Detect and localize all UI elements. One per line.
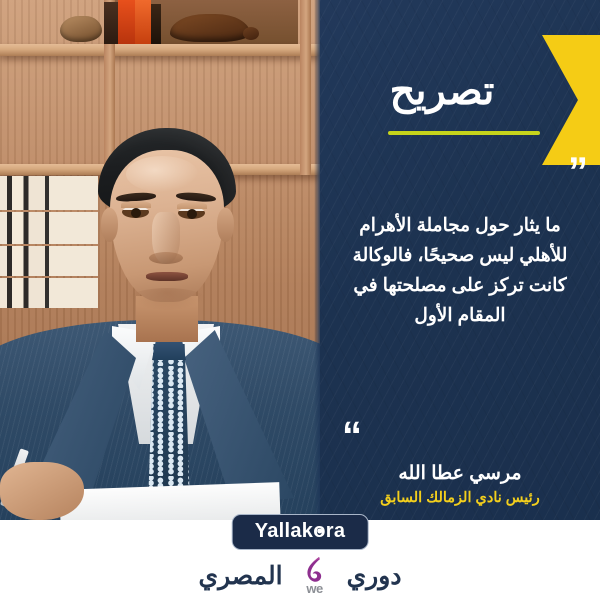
league-word-left: المصري <box>199 564 283 589</box>
subject-photo <box>0 0 320 520</box>
nose <box>152 212 180 264</box>
league-branding: دوري we المصري <box>199 556 402 596</box>
speaker-role: رئيس نادي الزمالك السابق <box>334 489 586 509</box>
speaker-name: مرسي عطا الله <box>334 462 586 487</box>
brand-ball-o: o <box>313 520 326 543</box>
eyelid-right <box>177 202 207 209</box>
we-sponsor-logo: we <box>295 556 335 596</box>
quote-text: ما يثار حول مجاملة الأهرام للأهلي ليس صح… <box>342 210 578 330</box>
quote-panel: تصريح ” ما يثار حول مجاملة الأهرام للأهل… <box>320 0 600 520</box>
we-wordmark: we <box>306 582 322 595</box>
chin-shadow <box>128 288 206 310</box>
brand-part-1: Yallak <box>255 520 314 542</box>
ear-left <box>101 208 118 242</box>
quote-close-icon: ” <box>568 152 588 192</box>
hand <box>0 462 84 520</box>
forehead-highlight <box>126 156 198 192</box>
quote-card: تصريح ” ما يثار حول مجاملة الأهرام للأهل… <box>0 0 600 600</box>
yallakora-logo-badge[interactable]: Yallakora <box>232 514 369 550</box>
ear-right <box>217 208 234 242</box>
panel-title: تصريح <box>342 68 542 114</box>
eyelid-left <box>121 201 151 208</box>
brand-part-2: ra <box>326 520 346 542</box>
person-figure <box>0 0 320 520</box>
league-word-right: دوري <box>347 564 402 589</box>
quote-open-icon: “ <box>342 416 362 456</box>
mouth <box>146 272 188 281</box>
we-flame-icon <box>302 556 328 584</box>
footer-bar: Yallakora دوري we المصري <box>0 520 600 600</box>
title-underline <box>388 131 540 135</box>
attribution: مرسي عطا الله رئيس نادي الزمالك السابق <box>334 462 586 508</box>
